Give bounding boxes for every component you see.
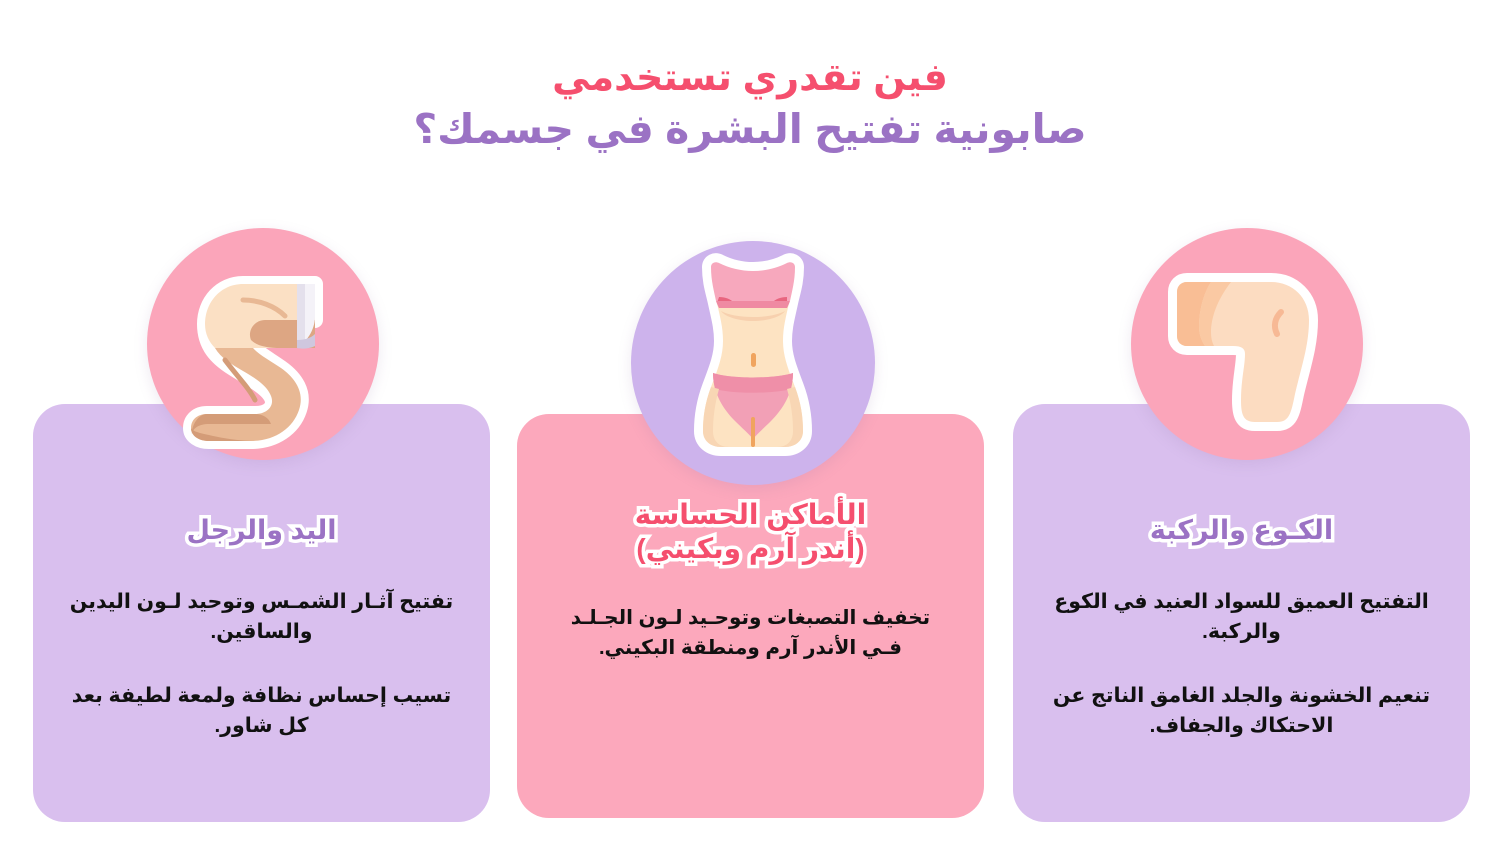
card-heading-elbow-and-knee: الكـوع والركبة — [1013, 514, 1470, 547]
page-title: فين تقدري تستخدمي صابونية تفتيح البشرة ف… — [0, 54, 1500, 155]
card-paragraph: تفتيح آثـار الشمـس وتوحيد لـون اليدين وا… — [67, 587, 456, 647]
card-heading-main: الأماكن الحساسة — [635, 499, 867, 530]
bent-knee-elbow-icon — [1131, 228, 1363, 460]
card-body-elbow-and-knee: التفتيح العميق للسواد العنيد في الكوع وا… — [1013, 587, 1470, 741]
sock-seam — [297, 284, 305, 348]
page-title-line-1: فين تقدري تستخدمي — [0, 54, 1500, 103]
card-paragraph: تسيب إحساس نظافة ولمعة لطيفة بعد كل شاور… — [67, 681, 456, 741]
navel — [751, 353, 756, 367]
card-body-sensitive-areas: تخفيف التصبغات وتوحـيد لـون الجـلـد فـي … — [517, 604, 984, 662]
female-torso-bikini-icon — [631, 241, 875, 485]
card-paragraph: التفتيح العميق للسواد العنيد في الكوع وا… — [1047, 587, 1436, 647]
badge-elbow-and-knee — [1131, 228, 1363, 460]
center-seam — [751, 417, 755, 447]
card-hand-and-leg[interactable]: اليد والرجل تفتيح آثـار الشمـس وتوحيد لـ… — [33, 404, 490, 822]
badge-hand-and-leg — [147, 228, 379, 460]
page-title-line-2: صابونية تفتيح البشرة في جسمك؟ — [0, 103, 1500, 155]
card-heading-subtitle: (أندر آرم وبكيني) — [535, 532, 966, 566]
card-heading-hand-and-leg: اليد والرجل — [33, 514, 490, 547]
badge-sensitive-areas — [631, 241, 875, 485]
bikini-top-band — [716, 301, 790, 308]
crossed-legs-icon — [147, 228, 379, 460]
infographic-page: فين تقدري تستخدمي صابونية تفتيح البشرة ف… — [0, 0, 1500, 863]
card-body-hand-and-leg: تفتيح آثـار الشمـس وتوحيد لـون اليدين وا… — [33, 587, 490, 741]
card-paragraph: تنعيم الخشونة والجلد الغامق الناتج عن ال… — [1047, 681, 1436, 741]
card-elbow-and-knee[interactable]: الكـوع والركبة التفتيح العميق للسواد الع… — [1013, 404, 1470, 822]
card-heading-sensitive-areas: الأماكن الحساسة (أندر آرم وبكيني) — [517, 498, 984, 566]
card-paragraph: تخفيف التصبغات وتوحـيد لـون الجـلـد فـي … — [551, 604, 950, 662]
